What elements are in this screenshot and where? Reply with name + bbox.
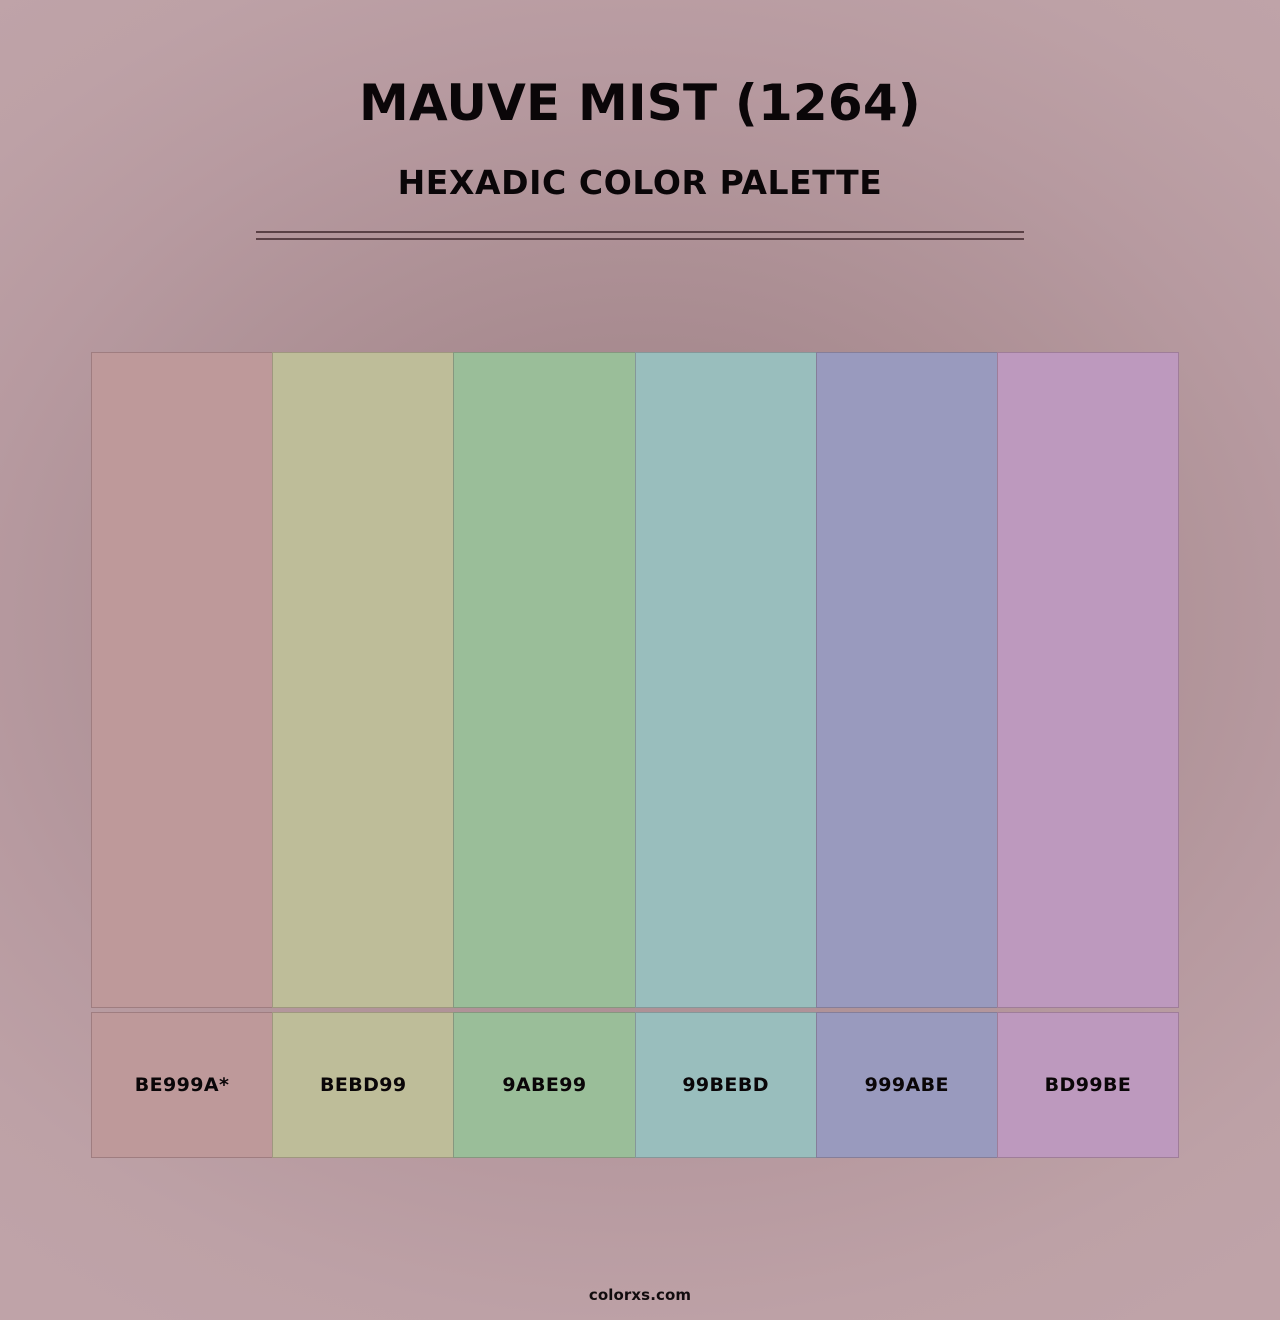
- color-swatch[interactable]: [997, 352, 1179, 1008]
- page-subtitle: HEXADIC COLOR PALETTE: [0, 163, 1280, 203]
- color-swatch[interactable]: [91, 352, 272, 1008]
- color-swatch[interactable]: [816, 352, 997, 1008]
- header-divider: [256, 231, 1024, 240]
- swatch-hex-label: BE999A*: [135, 1074, 230, 1096]
- color-swatch[interactable]: [635, 352, 816, 1008]
- color-palette: BE999A* BEBD99 9ABE99 99BEBD 999ABE BD99…: [91, 352, 1179, 1158]
- swatch-hex-label: 999ABE: [865, 1074, 949, 1096]
- swatch-hex-label: 99BEBD: [682, 1074, 769, 1096]
- swatch-hex-label: BEBD99: [320, 1074, 407, 1096]
- swatch-label-cell[interactable]: BE999A*: [91, 1012, 272, 1158]
- swatch-label-cell[interactable]: BD99BE: [997, 1012, 1179, 1158]
- divider-line-top: [256, 231, 1024, 233]
- swatch-label-row: BE999A* BEBD99 9ABE99 99BEBD 999ABE BD99…: [91, 1012, 1179, 1158]
- swatch-hex-label: 9ABE99: [502, 1074, 586, 1096]
- page-title: MAUVE MIST (1264): [0, 74, 1280, 132]
- swatch-row: [91, 352, 1179, 1008]
- color-swatch[interactable]: [272, 352, 453, 1008]
- color-swatch[interactable]: [453, 352, 634, 1008]
- swatch-label-cell[interactable]: 99BEBD: [635, 1012, 816, 1158]
- swatch-label-cell[interactable]: 9ABE99: [453, 1012, 634, 1158]
- swatch-label-cell[interactable]: BEBD99: [272, 1012, 453, 1158]
- divider-line-bottom: [256, 238, 1024, 240]
- swatch-hex-label: BD99BE: [1045, 1074, 1132, 1096]
- footer-credit: colorxs.com: [0, 1286, 1280, 1304]
- swatch-label-cell[interactable]: 999ABE: [816, 1012, 997, 1158]
- palette-page: MAUVE MIST (1264) HEXADIC COLOR PALETTE …: [0, 0, 1280, 1320]
